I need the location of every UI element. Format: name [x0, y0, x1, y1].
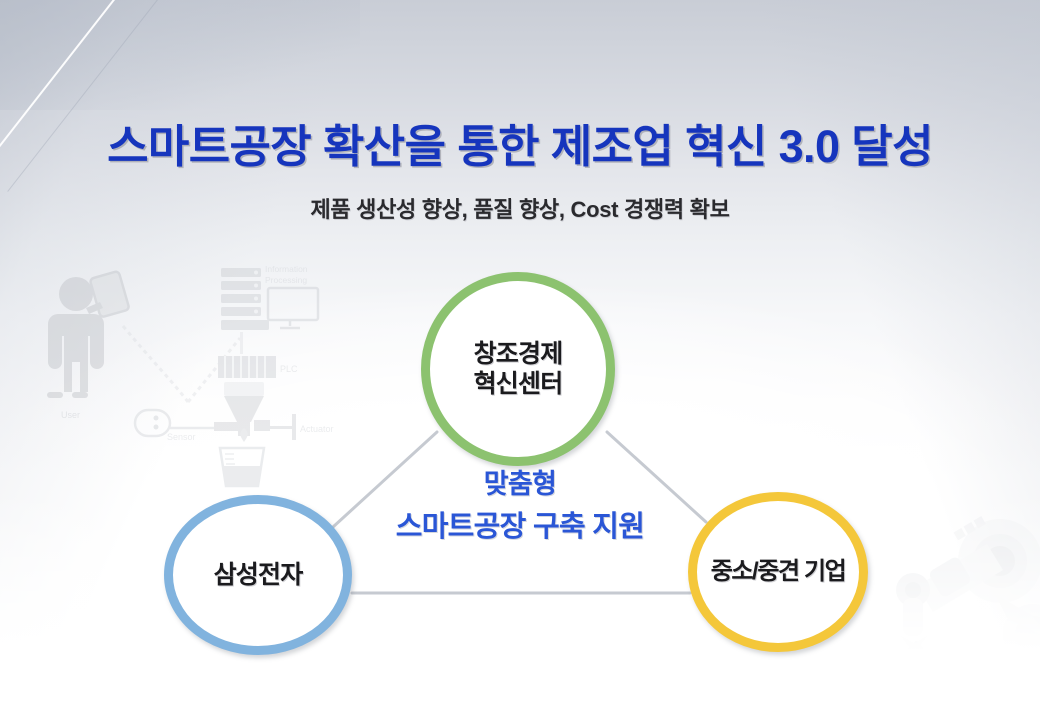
server-rack-icon: [221, 268, 269, 330]
node-label-sme-midsize-company: 중소/중견 기업: [711, 557, 846, 586]
diagram-node-sme-midsize-company[interactable]: 중소/중견 기업: [688, 492, 868, 652]
watermark-label-information: Information: [265, 264, 308, 274]
watermark-label-sensor: Sensor: [167, 432, 196, 442]
watermark-label-actuator: Actuator: [300, 424, 334, 434]
diagram-center-message: 맞춤형 스마트공장 구축 지원: [340, 465, 700, 549]
background-corner-shade: [0, 0, 360, 110]
node-label-line2: 혁신센터: [474, 370, 563, 398]
page-title: 스마트공장 확산을 통한 제조업 혁신 3.0 달성: [0, 110, 1040, 175]
watermark-label-processing: Processing: [265, 275, 307, 285]
user-with-tablet-icon: [47, 271, 130, 398]
monitor-icon: [268, 288, 318, 328]
funnel-dispenser-icon: [224, 382, 264, 442]
diagram-node-creative-innovation-center[interactable]: 창조경제 혁신센터: [421, 272, 615, 466]
plc-module-icon: [218, 356, 276, 378]
page-subtitle: 제품 생산성 향상, 품질 향상, Cost 경쟁력 확보: [0, 192, 1040, 224]
slide-canvas: User Information: [0, 0, 1040, 720]
beaker-icon: [220, 448, 264, 486]
center-message-line1: 맞춤형: [340, 465, 700, 503]
watermark-label-plc: PLC: [280, 364, 298, 374]
actuator-icon: [214, 414, 296, 440]
center-message-line2: 스마트공장 구축 지원: [340, 507, 700, 548]
diagram-node-samsung-electronics[interactable]: 삼성전자: [164, 495, 352, 655]
node-label-samsung-electronics: 삼성전자: [214, 560, 303, 591]
node-label-line1: 창조경제: [474, 340, 563, 368]
watermark-label-user: User: [61, 410, 80, 420]
node-label-creative-innovation-center: 창조경제 혁신센터: [474, 339, 563, 400]
